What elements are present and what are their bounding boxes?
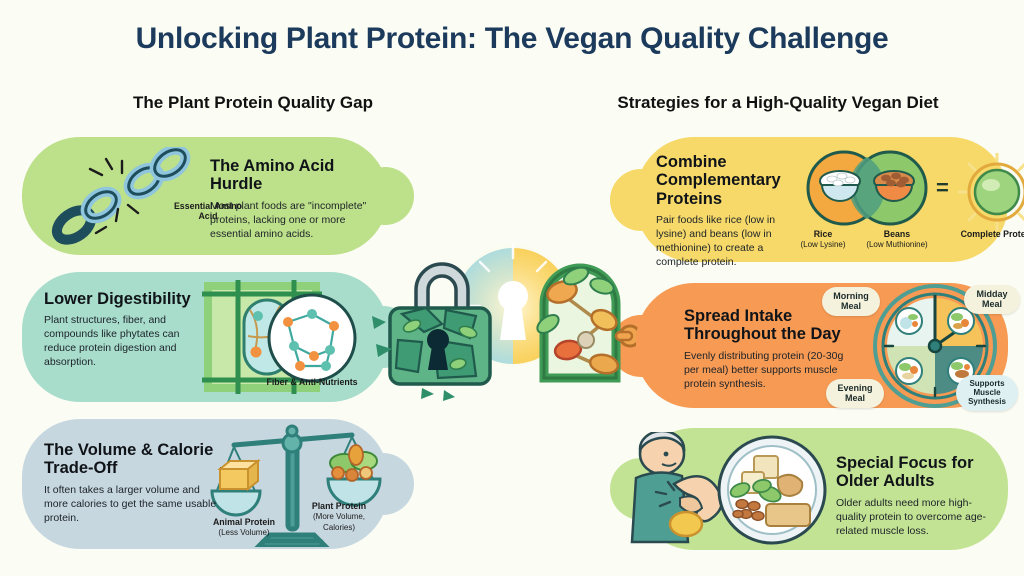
animal-protein-sublabel: (Less Volume)	[218, 528, 269, 537]
card-combine-body: Pair foods like rice (low in lysine) and…	[656, 214, 804, 269]
plant-protein-caption: Plant Protein (More Volume, Calories)	[296, 501, 382, 532]
fiber-caption: Fiber & Anti-Nutrients	[262, 377, 362, 387]
protein-plate-icon	[716, 434, 828, 546]
card-combine-complementary-proteins[interactable]: = Rice (Low Lysine) Beans (Low Muthionin…	[636, 137, 1008, 262]
plant-protein-label: Plant Protein	[312, 501, 366, 511]
broken-chain-icon	[46, 147, 196, 247]
equals-sign: =	[936, 175, 949, 201]
card-older-title: Special Focus for Older Adults	[836, 454, 1002, 491]
card-digestibility-title: Lower Digestibility	[44, 290, 196, 308]
card-amino-acid-hurdle[interactable]: Essential Amino Acid The Amino Acid Hurd…	[22, 137, 388, 255]
bubble-supports-muscle-synthesis: Supports Muscle Synthesis	[956, 375, 1018, 411]
bubble-midday-meal: Midday Meal	[964, 285, 1020, 314]
beans-label: Beans	[884, 229, 910, 239]
card-special-focus-older-adults[interactable]: Special Focus for Older Adults Older adu…	[636, 428, 1008, 550]
beans-sublabel: (Low Muthionine)	[866, 240, 927, 249]
card-spread-body: Evenly distributing protein (20-30g per …	[684, 350, 860, 392]
card-amino-title: The Amino Acid Hurdle	[210, 157, 375, 194]
rice-label: Rice	[814, 229, 833, 239]
beans-caption: Beans (Low Muthionine)	[854, 229, 940, 250]
left-column-heading: The Plant Protein Quality Gap	[48, 93, 458, 113]
anti-nutrients-molecule-icon	[266, 292, 358, 384]
fiber-caption-text: Fiber & Anti-Nutrients	[266, 377, 357, 387]
complete-protein-label: Complete Protein	[961, 229, 1024, 239]
plant-protein-sublabel: (More Volume, Calories)	[313, 512, 365, 531]
card-volume-body: It often takes a larger volume and more …	[44, 484, 224, 526]
card-older-body: Older adults need more high-quality prot…	[836, 497, 1002, 539]
card-digestibility-body: Plant structures, fiber, and compounds l…	[44, 314, 196, 369]
page-title: Unlocking Plant Protein: The Vegan Quali…	[0, 22, 1024, 56]
complete-protein-caption: Complete Protein	[952, 229, 1024, 239]
venn-bowls-icon	[802, 149, 932, 227]
card-spread-title: Spread Intake Throughout the Day	[684, 307, 860, 344]
card-combine-title: Combine Complementary Proteins	[656, 153, 804, 208]
right-column-heading: Strategies for a High-Quality Vegan Diet	[548, 93, 1008, 113]
card-volume-title: The Volume & Calorie Trade-Off	[44, 441, 224, 478]
card-amino-body: Most plant foods are "incomplete" protei…	[210, 200, 375, 242]
center-lock-scene	[372, 228, 654, 428]
card-lower-digestibility[interactable]: Fiber & Anti-Nutrients Lower Digestibili…	[22, 272, 388, 402]
card-volume-calorie-tradeoff[interactable]: Animal Protein (Less Volume) Plant Prote…	[22, 419, 388, 549]
complete-protein-orb-icon	[958, 153, 1024, 231]
card-spread-intake[interactable]: Morning Meal Midday Meal Evening Meal Su…	[636, 283, 1008, 408]
rice-sublabel: (Low Lysine)	[800, 240, 845, 249]
